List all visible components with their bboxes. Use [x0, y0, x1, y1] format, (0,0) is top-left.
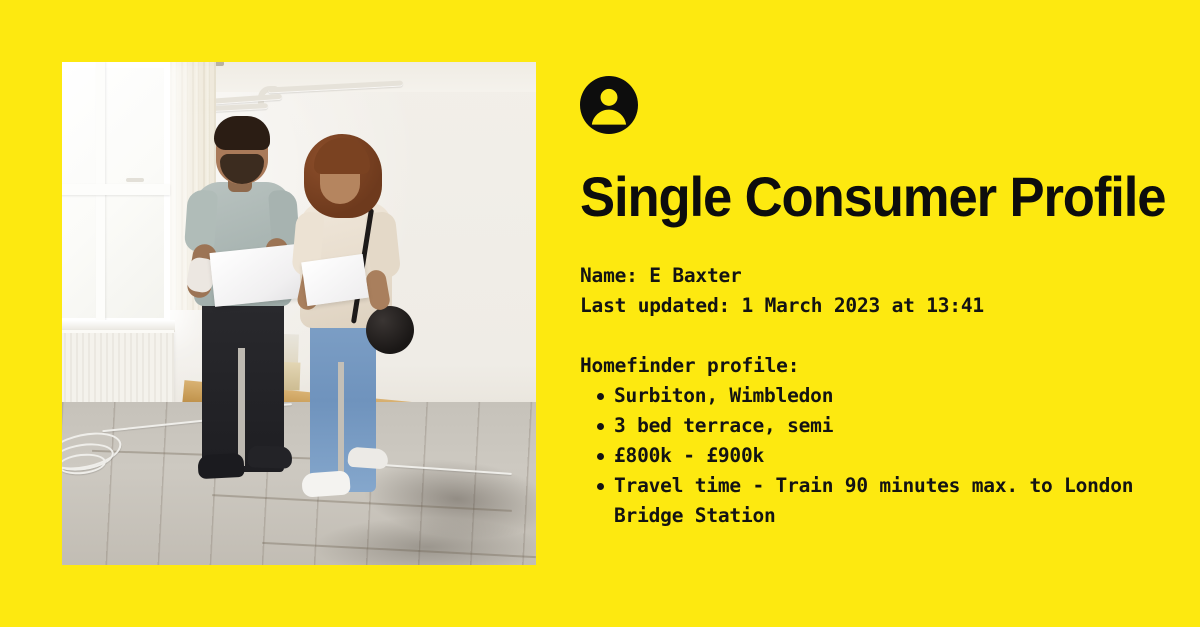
homefinder-profile-list: Surbiton, Wimbledon 3 bed terrace, semi …: [580, 381, 1160, 531]
man-leg-gap: [238, 348, 245, 466]
woman-sneaker-right: [347, 447, 388, 470]
profile-content: Single Consumer Profile Name: E Baxter L…: [580, 62, 1160, 531]
page-title: Single Consumer Profile: [580, 168, 1125, 225]
profile-meta: Name: E Baxter Last updated: 1 March 202…: [580, 261, 1160, 321]
window-latch: [126, 178, 144, 182]
list-item: Travel time - Train 90 minutes max. to L…: [580, 471, 1160, 531]
man-shoe-right: [248, 445, 293, 469]
window: [62, 62, 170, 324]
radiator: [62, 330, 174, 402]
homefinder-profile-label: Homefinder profile:: [580, 351, 1160, 381]
woman-document: [301, 254, 369, 306]
man-hair: [214, 116, 270, 150]
meta-last-updated: Last updated: 1 March 2023 at 13:41: [580, 291, 1160, 321]
floor-dirt-patch-2: [312, 517, 536, 565]
photo-scene: [62, 62, 536, 565]
woman-sneaker-left: [301, 470, 351, 497]
woman-leg-gap: [338, 362, 344, 482]
person-icon: [580, 76, 638, 134]
window-glazing-bar-horizontal: [62, 184, 170, 195]
list-item: 3 bed terrace, semi: [580, 411, 1160, 441]
list-item: £800k - £900k: [580, 441, 1160, 471]
profile-photo: [62, 62, 536, 565]
woman-handbag: [366, 306, 414, 354]
list-item: Surbiton, Wimbledon: [580, 381, 1160, 411]
consumer-profile-card: Single Consumer Profile Name: E Baxter L…: [0, 0, 1200, 627]
meta-name: Name: E Baxter: [580, 261, 1160, 291]
man-shoe-left: [197, 453, 244, 479]
